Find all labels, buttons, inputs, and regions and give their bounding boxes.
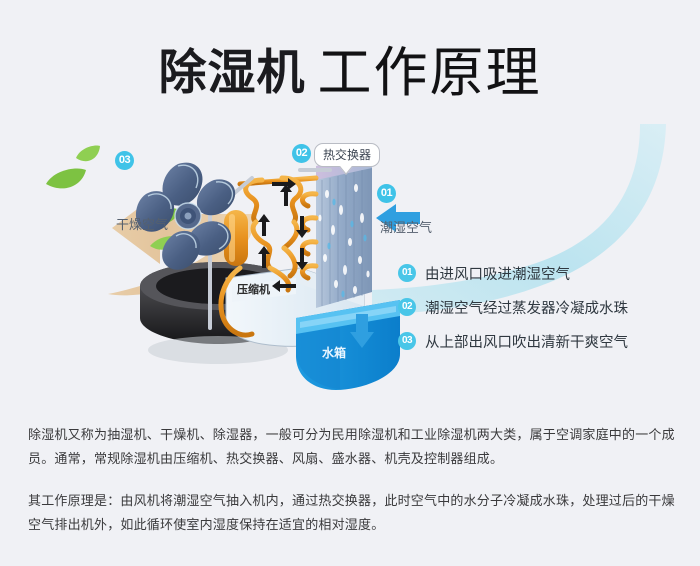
paragraph-definition: 除湿机又称为抽湿机、干燥机、除湿器，一般可分为民用除湿机和工业除湿机两大类，属于… bbox=[28, 423, 678, 471]
part-label-water-tank: 水箱 bbox=[322, 344, 346, 361]
process-legend: 01 由进风口吸进潮湿空气 02 潮湿空气经过蒸发器冷凝成水珠 03 从上部出风… bbox=[398, 256, 668, 358]
callout-label-heat-exchanger: 热交换器 bbox=[314, 143, 380, 167]
legend-badge-02: 02 bbox=[398, 298, 416, 316]
body-copy: 除湿机又称为抽湿机、干燥机、除湿器，一般可分为民用除湿机和工业除湿机两大类，属于… bbox=[28, 423, 678, 537]
callout-label-humid-air: 潮湿空气 bbox=[380, 217, 432, 236]
legend-text-03: 从上部出风口吹出清新干爽空气 bbox=[425, 331, 628, 352]
callout-label-dry-air: 干燥空气 bbox=[116, 214, 168, 233]
legend-item-02: 02 潮湿空气经过蒸发器冷凝成水珠 bbox=[398, 290, 668, 324]
legend-text-02: 潮湿空气经过蒸发器冷凝成水珠 bbox=[425, 297, 628, 318]
callout-badge-02: 02 bbox=[292, 144, 311, 163]
title-secondary: 工作原理 bbox=[318, 43, 542, 103]
legend-badge-03: 03 bbox=[398, 332, 416, 350]
legend-text-01: 由进风口吸进潮湿空气 bbox=[425, 263, 570, 284]
page-title: 除湿机工作原理 bbox=[0, 28, 700, 107]
legend-item-01: 01 由进风口吸进潮湿空气 bbox=[398, 256, 668, 290]
heat-exchanger-panel bbox=[316, 154, 372, 308]
legend-item-03: 03 从上部出风口吹出清新干爽空气 bbox=[398, 324, 668, 358]
page-root: 除湿机工作原理 bbox=[0, 0, 700, 566]
title-primary: 除湿机 bbox=[158, 47, 305, 100]
callout-badge-03: 03 bbox=[115, 151, 134, 170]
legend-badge-01: 01 bbox=[398, 264, 416, 282]
part-label-compressor: 压缩机 bbox=[237, 281, 270, 297]
callout-badge-01: 01 bbox=[377, 184, 396, 203]
paragraph-principle: 其工作原理是：由风机将潮湿空气抽入机内，通过热交换器，此时空气中的水分子冷凝成水… bbox=[28, 489, 678, 537]
